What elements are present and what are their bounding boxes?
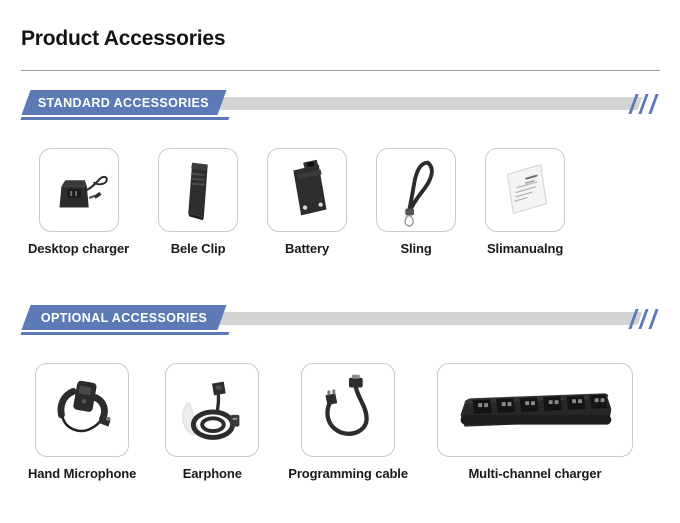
hand-microphone-icon (36, 364, 128, 456)
banner-label-standard: STANDARD ACCESSORIES (38, 96, 209, 110)
product-card[interactable] (485, 148, 565, 232)
battery-icon (268, 149, 346, 231)
product-label: Slimanualng (487, 241, 563, 256)
section-banner-standard: STANDARD ACCESSORIES (0, 90, 680, 124)
product-label: Sling (400, 241, 431, 256)
banner-blue-tag: STANDARD ACCESSORIES (21, 90, 226, 115)
product-card[interactable] (158, 148, 238, 232)
product-card[interactable] (35, 363, 129, 457)
product-card[interactable] (376, 148, 456, 232)
product-card[interactable] (437, 363, 633, 457)
standard-accessories-row: Desktop charger Bele Clip (28, 148, 565, 256)
multi-channel-charger-icon (438, 364, 632, 456)
product-card[interactable] (267, 148, 347, 232)
product-cell-multi-channel-charger[interactable]: Multi-channel charger (437, 363, 633, 481)
section-banner-optional: OPTIONAL ACCESSORIES (0, 305, 680, 339)
product-cell-earphone[interactable]: Earphone (165, 363, 259, 481)
desktop-charger-icon (40, 149, 118, 231)
product-label: Programming cable (288, 466, 408, 481)
manual-document-icon (486, 149, 564, 231)
product-card[interactable] (165, 363, 259, 457)
product-card[interactable] (39, 148, 119, 232)
sling-strap-icon (377, 149, 455, 231)
banner-slash-decoration (632, 94, 664, 114)
product-cell-sling[interactable]: Sling (376, 148, 456, 256)
banner-blue-tag: OPTIONAL ACCESSORIES (21, 305, 226, 330)
product-label: Battery (285, 241, 329, 256)
banner-slash-decoration (632, 309, 664, 329)
banner-underline (21, 117, 230, 120)
banner-underline (21, 332, 230, 335)
programming-cable-icon (302, 364, 394, 456)
optional-accessories-row: Hand Microphone Earphone (28, 363, 633, 481)
product-label: Bele Clip (171, 241, 226, 256)
page-title: Product Accessories (21, 27, 225, 51)
banner-label-optional: OPTIONAL ACCESSORIES (41, 311, 207, 325)
product-card[interactable] (301, 363, 395, 457)
belt-clip-icon (159, 149, 237, 231)
product-cell-slimanualng[interactable]: Slimanualng (485, 148, 565, 256)
product-label: Multi-channel charger (468, 466, 601, 481)
product-cell-programming-cable[interactable]: Programming cable (288, 363, 408, 481)
product-cell-bele-clip[interactable]: Bele Clip (158, 148, 238, 256)
product-cell-hand-microphone[interactable]: Hand Microphone (28, 363, 136, 481)
earphone-icon (166, 364, 258, 456)
title-divider (21, 70, 660, 71)
product-label: Desktop charger (28, 241, 129, 256)
product-cell-desktop-charger[interactable]: Desktop charger (28, 148, 129, 256)
product-cell-battery[interactable]: Battery (267, 148, 347, 256)
product-label: Earphone (183, 466, 242, 481)
product-label: Hand Microphone (28, 466, 136, 481)
